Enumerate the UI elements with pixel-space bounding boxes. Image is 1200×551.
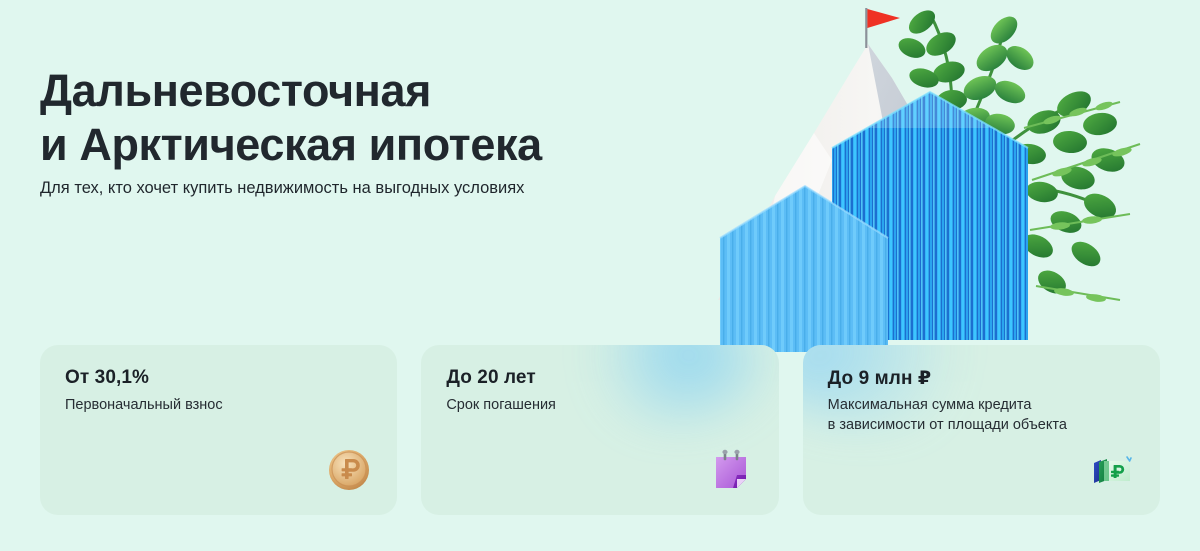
tall-striped-house xyxy=(828,88,1032,344)
card-label: Первоначальный взнос xyxy=(65,395,223,415)
promo-banner: Дальневосточная и Арктическая ипотека Дл… xyxy=(0,0,1200,551)
benefit-card-term[interactable]: До 20 лет Срок погашения xyxy=(421,345,778,515)
snowy-mountain xyxy=(718,44,1004,300)
card-glow xyxy=(569,345,769,425)
benefit-card-down-payment[interactable]: От 30,1% Первоначальный взнос xyxy=(40,345,397,515)
benefit-cards: От 30,1% Первоначальный взнос xyxy=(40,345,1160,515)
card-label: Максимальная сумма кредита в зависимости… xyxy=(828,395,1067,435)
hero-illustration xyxy=(600,0,1200,360)
green-foliage xyxy=(896,6,1140,303)
ruble-coin-icon xyxy=(325,445,373,493)
banknotes-ruble-icon xyxy=(1088,445,1136,493)
calendar-icon xyxy=(707,445,755,493)
card-value: От 30,1% xyxy=(65,367,149,389)
page-subtitle: Для тех, кто хочет купить недвижимость н… xyxy=(40,177,524,199)
small-striped-house xyxy=(716,182,894,358)
card-glow xyxy=(207,345,397,425)
red-flag xyxy=(865,8,900,48)
card-value: До 9 млн ₽ xyxy=(828,367,932,390)
benefit-card-max-amount[interactable]: До 9 млн ₽ Максимальная сумма кредита в … xyxy=(803,345,1160,515)
page-title: Дальневосточная и Арктическая ипотека xyxy=(40,64,660,172)
card-value: До 20 лет xyxy=(446,367,535,389)
card-label: Срок погашения xyxy=(446,395,556,415)
